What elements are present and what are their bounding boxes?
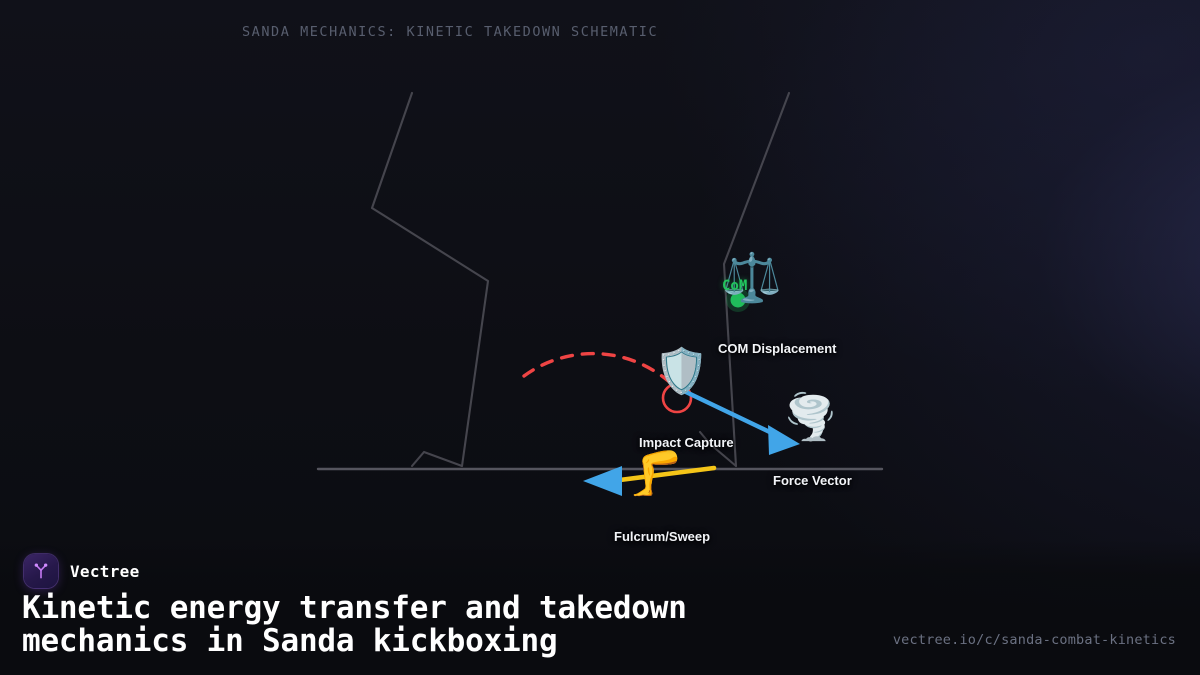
figure-lower-left — [412, 452, 462, 466]
headline-line-2: mechanics in Sanda kickboxing — [22, 625, 862, 658]
brand-row: Vectree — [24, 554, 140, 588]
footer-bar: Vectree Kinetic energy transfer and take… — [0, 540, 1200, 675]
headline-line-1: Kinetic energy transfer and takedown — [22, 592, 862, 625]
page-headline: Kinetic energy transfer and takedown mec… — [22, 592, 862, 657]
com-marker-label: CoM — [722, 278, 747, 294]
node-label-force-vector: Force Vector — [773, 473, 852, 488]
sweep-arrowhead — [583, 466, 622, 496]
vectree-branch-logo-icon — [24, 554, 58, 588]
shield-icon: 🛡️ — [654, 350, 709, 394]
node-label-com-displacement: COM Displacement — [718, 341, 836, 356]
site-url: vectree.io/c/sanda-combat-kinetics — [893, 632, 1176, 648]
brand-name: Vectree — [70, 562, 140, 581]
schematic-canvas: SANDA MECHANICS: KINETIC TAKEDOWN SCHEMA… — [0, 0, 1200, 675]
figure-left-limb — [372, 93, 488, 466]
leg-icon: 🦵 — [628, 452, 683, 496]
tornado-icon: 🌪️ — [783, 396, 838, 440]
node-label-impact-capture: Impact Capture — [639, 435, 734, 450]
